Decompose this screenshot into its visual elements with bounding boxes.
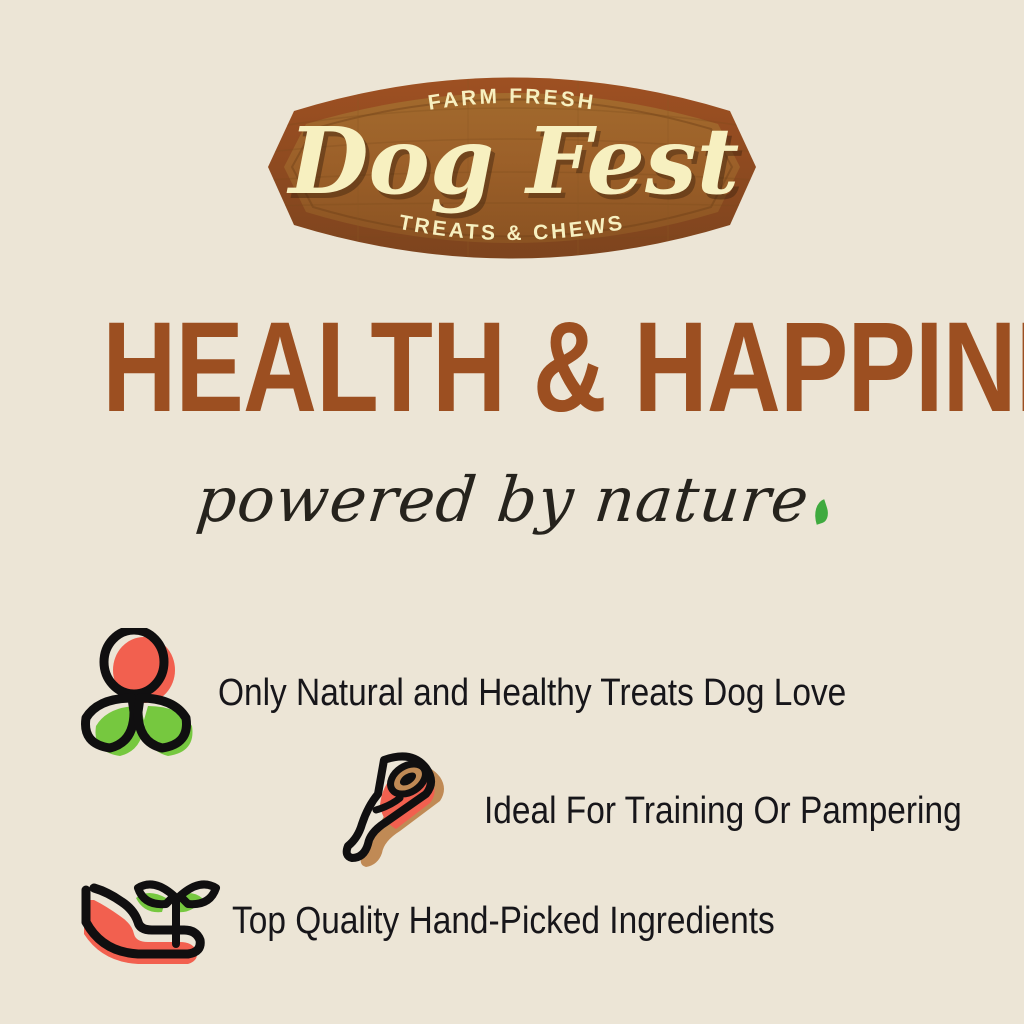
feature-list: Only Natural and Healthy Treats Dog Love bbox=[0, 618, 1024, 978]
logo-brand-text: Dog Fest bbox=[286, 107, 740, 215]
feature-row-training: Ideal For Training Or Pampering bbox=[340, 748, 1024, 873]
feature-row-ingredients: Top Quality Hand-Picked Ingredients bbox=[68, 866, 849, 976]
ham-bone-icon bbox=[340, 748, 470, 873]
sprout-leaf-right-outline bbox=[180, 884, 216, 904]
feature-label-ingredients: Top Quality Hand-Picked Ingredients bbox=[232, 900, 775, 942]
hand-holding-sprout-icon bbox=[68, 866, 228, 976]
feature-label-training: Ideal For Training Or Pampering bbox=[484, 790, 962, 832]
feature-label-natural: Only Natural and Healthy Treats Dog Love bbox=[218, 672, 846, 714]
logo-brand-text-el: Dog Fest bbox=[286, 107, 740, 215]
poster-canvas: FARM FRESH Dog Fest Dog Fest TREATS & CH… bbox=[0, 0, 1024, 1024]
headline: HEALTH & HAPPINESS bbox=[102, 300, 921, 436]
subtitle-row: powered by nature bbox=[0, 462, 1024, 538]
subtitle-text: powered by nature bbox=[193, 462, 813, 538]
flower-plant-icon bbox=[70, 628, 210, 758]
logo-brand-wordmark: Dog Fest Dog Fest bbox=[286, 107, 744, 220]
leaf-icon bbox=[809, 499, 830, 525]
brand-logo: FARM FRESH Dog Fest Dog Fest TREATS & CH… bbox=[258, 48, 766, 286]
feature-row-natural: Only Natural and Healthy Treats Dog Love bbox=[70, 628, 932, 758]
